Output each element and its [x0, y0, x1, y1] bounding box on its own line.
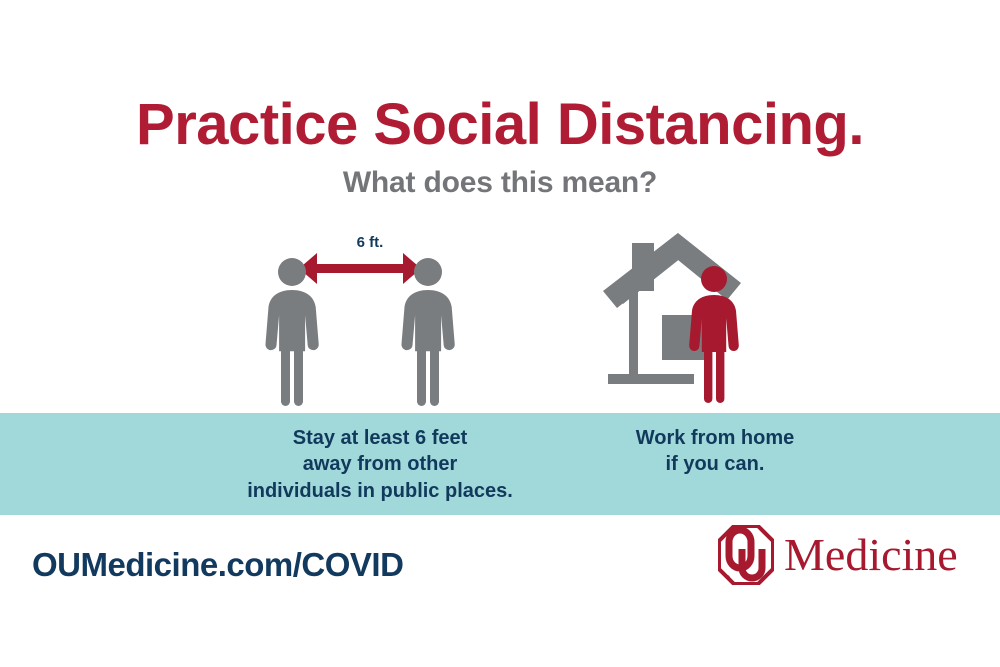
- caption-line: away from other: [190, 451, 570, 477]
- caption-work-from-home: Work from home if you can.: [590, 425, 840, 478]
- page-subtitle: What does this mean?: [0, 168, 1000, 198]
- page-title: Practice Social Distancing.: [0, 96, 1000, 154]
- caption-social-distance: Stay at least 6 feet away from other ind…: [190, 425, 570, 504]
- headline-block: Practice Social Distancing. What does th…: [0, 96, 1000, 198]
- caption-line: Stay at least 6 feet: [190, 425, 570, 451]
- caption-band: Stay at least 6 feet away from other ind…: [0, 413, 1000, 515]
- social-distance-illustration: 6 ft.: [255, 228, 505, 413]
- distance-label: 6 ft.: [310, 234, 430, 251]
- six-feet-arrow-icon: [299, 253, 421, 284]
- person-figure-left-icon: [265, 258, 318, 406]
- caption-line: Work from home: [590, 425, 840, 451]
- work-from-home-illustration: [590, 228, 840, 413]
- ou-interlocking-octagon-logo-icon: [718, 525, 774, 585]
- poster-canvas: Practice Social Distancing. What does th…: [0, 0, 1000, 667]
- illustration-area: 6 ft.: [0, 228, 1000, 413]
- person-figure-right-icon: [401, 258, 454, 406]
- ou-medicine-logo: Medicine: [718, 524, 958, 586]
- caption-line: if you can.: [590, 451, 840, 477]
- two-people-6ft-arrow-icon: [255, 228, 505, 413]
- website-url[interactable]: OUMedicine.com/COVID: [32, 546, 403, 584]
- caption-line: individuals in public places.: [190, 478, 570, 504]
- house-with-person-icon: [590, 228, 840, 413]
- logo-wordmark: Medicine: [784, 532, 958, 578]
